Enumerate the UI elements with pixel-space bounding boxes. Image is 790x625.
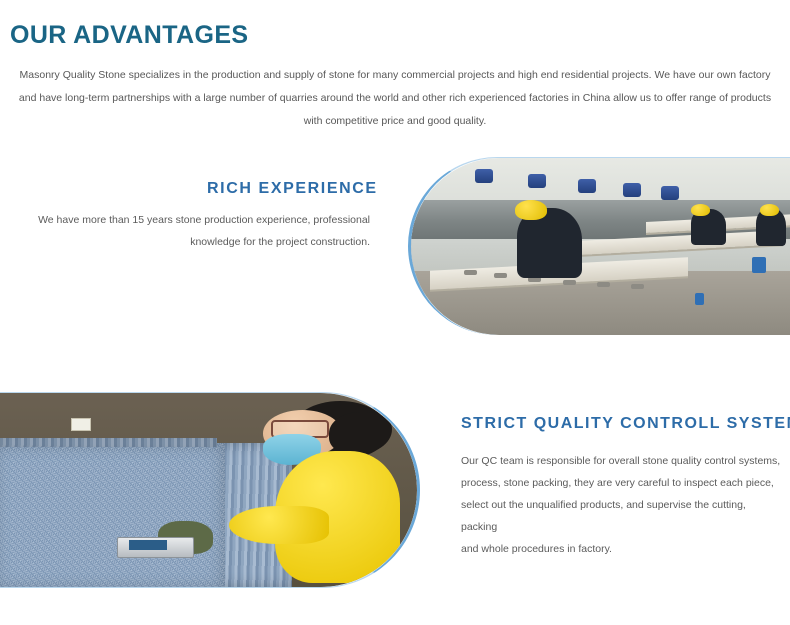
stone-part (563, 280, 576, 285)
wall-sign (71, 418, 91, 431)
stone-part (597, 282, 610, 287)
hard-hat-icon (760, 204, 779, 216)
hose-reel-icon (528, 174, 546, 188)
inspector-arm (229, 506, 329, 545)
hose-reel-icon (623, 183, 641, 197)
hard-hat-icon (515, 200, 547, 219)
quality-control-line-3: select out the unqualified products, and… (461, 494, 783, 538)
quality-control-line-1: Our QC team is responsible for overall s… (461, 450, 783, 472)
stone-part (464, 270, 477, 275)
rich-experience-line-2: knowledge for the project construction. (20, 231, 370, 253)
quality-control-line-2: process, stone packing, they are very ca… (461, 472, 783, 494)
rich-experience-line-1: We have more than 15 years stone product… (20, 209, 370, 231)
quality-control-line-4: and whole procedures in factory. (461, 538, 783, 560)
stone-part (494, 273, 507, 278)
page-title: OUR ADVANTAGES (10, 20, 248, 50)
hard-hat-icon (691, 204, 710, 216)
device-screen (129, 540, 167, 550)
factory-ceiling (411, 158, 790, 204)
intro-line-3: with competitive price and good quality. (8, 110, 782, 133)
quality-inspection-photo (0, 392, 420, 588)
intro-line-2: and have long-term partnerships with a l… (8, 87, 782, 110)
bucket (695, 293, 704, 305)
stone-part (631, 284, 644, 289)
stone-slab (0, 443, 225, 587)
hose-reel-icon (475, 169, 493, 183)
inspection-photo-canvas (0, 393, 417, 587)
hose-reel-icon (578, 179, 596, 193)
feature-heading-rich-experience: RICH EXPERIENCE (207, 180, 378, 198)
feature-heading-quality-control: STRICT QUALITY CONTROLL SYSTEM (461, 415, 790, 433)
intro-line-1: Masonry Quality Stone specializes in the… (8, 64, 782, 87)
feature-body-rich-experience: We have more than 15 years stone product… (20, 209, 370, 253)
intro-paragraph: Masonry Quality Stone specializes in the… (8, 64, 782, 133)
factory-photo-canvas (411, 158, 790, 335)
feature-body-quality-control: Our QC team is responsible for overall s… (461, 450, 783, 560)
stone-slab-edge (0, 438, 217, 448)
factory-workers-photo (408, 157, 790, 335)
bucket (752, 257, 766, 273)
hose-reel-icon (661, 186, 679, 200)
